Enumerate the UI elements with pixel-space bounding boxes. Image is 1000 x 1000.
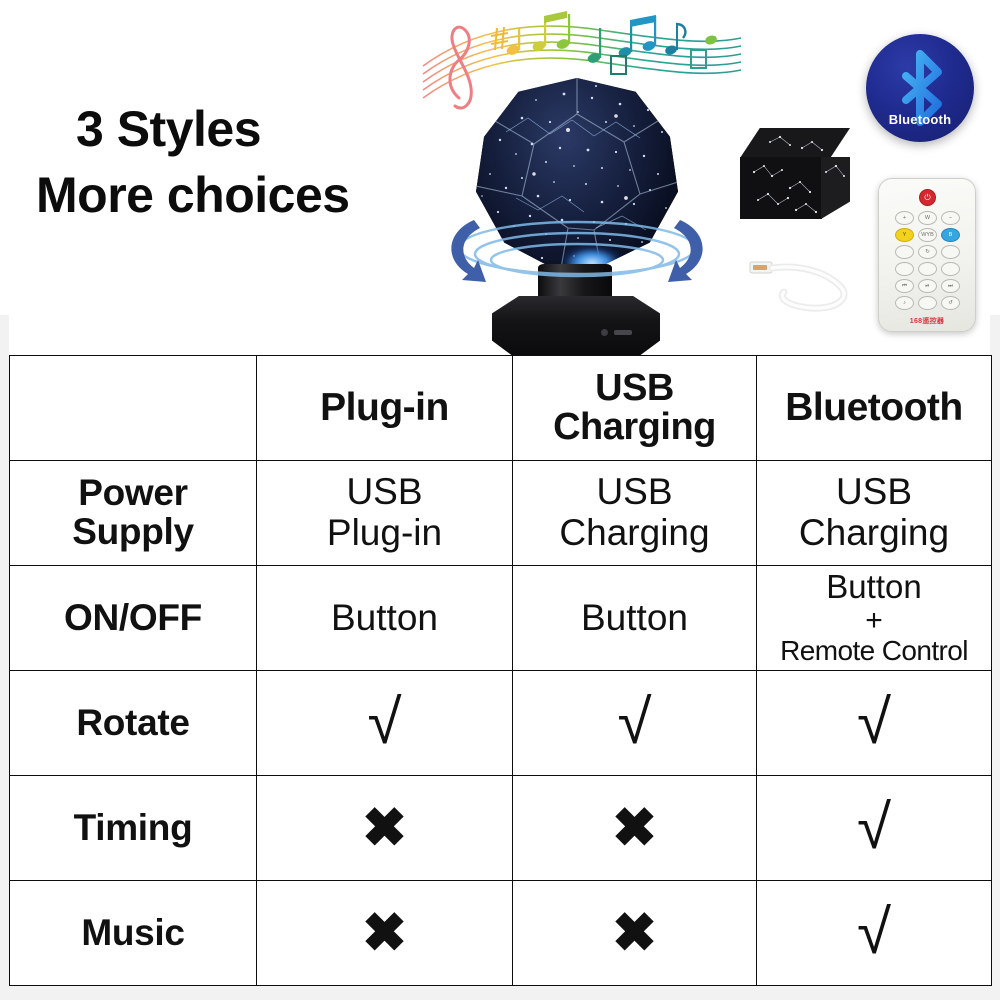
cell-on-off-usb-charging-line-1: Button (581, 597, 688, 638)
page-margin-left (0, 315, 9, 1000)
cell-rotate-usb-charging: √ (513, 671, 757, 776)
cell-on-off-plug-in: Button (257, 566, 513, 671)
cell-on-off-bluetooth-plus: + (761, 606, 987, 636)
remote-play-button: ⏯ (918, 279, 937, 293)
cell-music-usb-charging: ✖ (513, 881, 757, 986)
rotation-arrows-icon (434, 198, 720, 308)
row-label-rotate-line-1: Rotate (76, 702, 189, 743)
remote-loop-button: ↺ (941, 296, 960, 310)
cell-on-off-bluetooth-line-3: Remote Control (761, 636, 987, 667)
box-constellation-pattern (740, 128, 850, 224)
row-label-power-supply: Power Supply (10, 461, 257, 566)
star-projector-lamp (452, 78, 702, 353)
cell-on-off-bluetooth: Button + Remote Control (757, 566, 992, 671)
row-label-timing: Timing (10, 776, 257, 881)
product-box (740, 128, 850, 224)
row-label-timing-line-1: Timing (74, 807, 193, 848)
remote-model-label: 168遥控器 (879, 316, 975, 326)
column-header-usb-charging: USB Charging (513, 356, 757, 461)
column-header-plug-in: Plug-in (257, 356, 513, 461)
cell-power-supply-usb-charging-line-1: USB (517, 472, 752, 513)
remote-yellow-button: Y (895, 228, 914, 242)
usb-cable (748, 248, 868, 318)
cell-power-supply-bluetooth-line-2: Charging (761, 513, 987, 554)
table-row-rotate: Rotate √ √ √ (10, 671, 992, 776)
page-margin-bottom (0, 986, 1000, 1000)
remote-speeddown-button (918, 296, 937, 310)
cell-power-supply-plug-in: USB Plug-in (257, 461, 513, 566)
remote-mode1-button (895, 245, 914, 259)
table-row-timing: Timing ✖ ✖ √ (10, 776, 992, 881)
cell-music-bluetooth: √ (757, 881, 992, 986)
table-header-row: Plug-in USB Charging Bluetooth (10, 356, 992, 461)
table-corner-cell (10, 356, 257, 461)
remote-flash-button (941, 245, 960, 259)
power-button (601, 329, 608, 336)
cell-rotate-plug-in: √ (257, 671, 513, 776)
headline: 3 Styles More choices (36, 96, 456, 228)
cell-timing-bluetooth: √ (757, 776, 992, 881)
remote-next-button: ⏭ (941, 279, 960, 293)
table-row-power-supply: Power Supply USB Plug-in USB Charging US… (10, 461, 992, 566)
remote-rotate-button: ↻ (918, 245, 937, 259)
table-row-music: Music ✖ ✖ √ (10, 881, 992, 986)
column-header-bluetooth-line-1: Bluetooth (785, 386, 962, 429)
cell-on-off-usb-charging: Button (513, 566, 757, 671)
row-label-power-supply-line-1: Power (14, 474, 252, 513)
row-label-on-off-line-1: ON/OFF (64, 597, 202, 638)
remote-minus-button: − (941, 211, 960, 225)
cell-power-supply-plug-in-line-1: USB (261, 472, 508, 513)
cell-power-supply-plug-in-line-2: Plug-in (261, 513, 508, 554)
column-header-plug-in-line-1: Plug-in (320, 386, 449, 429)
column-header-usb-charging-line-2: Charging (517, 408, 752, 447)
hero-banner: 3 Styles More choices (0, 0, 1000, 355)
usb-port (614, 330, 632, 335)
column-header-bluetooth: Bluetooth (757, 356, 992, 461)
headline-line-2: More choices (36, 162, 456, 228)
remote-plus-button: + (895, 211, 914, 225)
cell-timing-usb-charging: ✖ (513, 776, 757, 881)
remote-control: ⏻ + W − Y WYB B ↻ ⏮ ⏯ ⏭ ♪ ↺ 168遥控器 (878, 178, 976, 332)
cell-rotate-bluetooth: √ (757, 671, 992, 776)
cell-power-supply-usb-charging: USB Charging (513, 461, 757, 566)
remote-timer30-button (895, 262, 914, 276)
remote-speedup-button (918, 262, 937, 276)
bluetooth-badge: Bluetooth (866, 34, 974, 142)
row-label-music-line-1: Music (81, 912, 184, 953)
bluetooth-badge-label: Bluetooth (866, 112, 974, 127)
remote-music-button: ♪ (895, 296, 914, 310)
spec-comparison-table: Plug-in USB Charging Bluetooth Power Sup… (9, 355, 992, 986)
cell-timing-plug-in: ✖ (257, 776, 513, 881)
table-row-on-off: ON/OFF Button Button Button + Remote Con… (10, 566, 992, 671)
cell-on-off-bluetooth-line-1: Button (761, 569, 987, 605)
remote-power-button: ⏻ (919, 189, 936, 206)
cell-power-supply-bluetooth-line-1: USB (761, 472, 987, 513)
row-label-on-off: ON/OFF (10, 566, 257, 671)
product-comparison-image: 3 Styles More choices (0, 0, 1000, 1000)
cell-power-supply-usb-charging-line-2: Charging (517, 513, 752, 554)
cell-power-supply-bluetooth: USB Charging (757, 461, 992, 566)
remote-timer60-button (941, 262, 960, 276)
row-label-power-supply-line-2: Supply (14, 513, 252, 552)
headline-line-1: 3 Styles (36, 96, 456, 162)
row-label-music: Music (10, 881, 257, 986)
row-label-rotate: Rotate (10, 671, 257, 776)
cell-music-plug-in: ✖ (257, 881, 513, 986)
remote-wyb-button: WYB (918, 228, 937, 242)
remote-prev-button: ⏮ (895, 279, 914, 293)
column-header-usb-charging-line-1: USB (517, 369, 752, 408)
remote-blue-button: B (941, 228, 960, 242)
remote-w-button: W (918, 211, 937, 225)
cell-on-off-plug-in-line-1: Button (331, 597, 438, 638)
